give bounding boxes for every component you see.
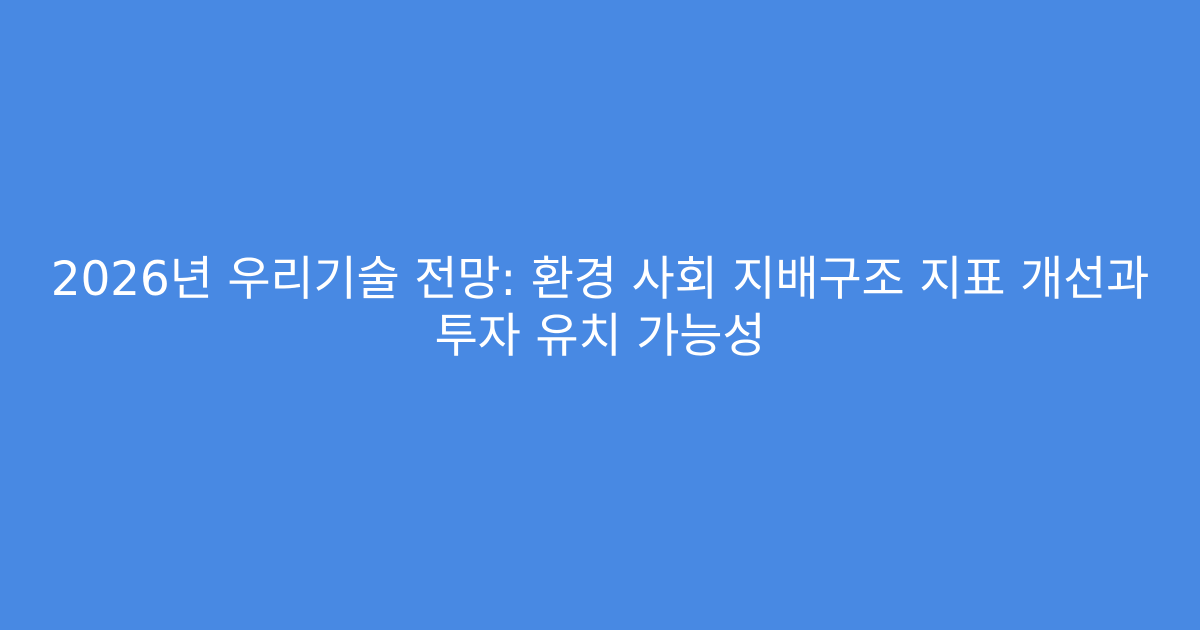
og-card: 2026년 우리기술 전망: 환경 사회 지배구조 지표 개선과 투자 유치 가… [0,0,1200,630]
title-block: 2026년 우리기술 전망: 환경 사회 지배구조 지표 개선과 투자 유치 가… [45,251,1155,365]
page-title: 2026년 우리기술 전망: 환경 사회 지배구조 지표 개선과 투자 유치 가… [45,251,1155,365]
